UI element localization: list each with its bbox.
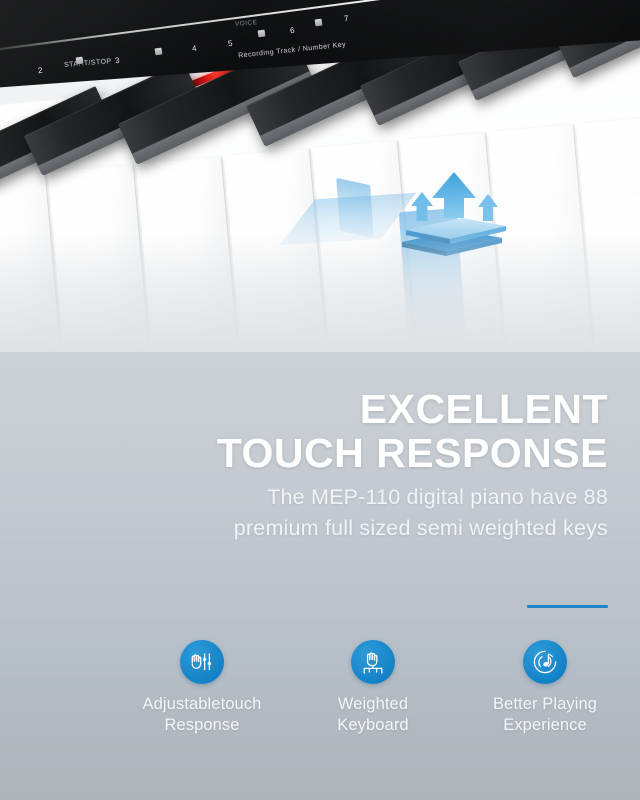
music-note-disc-icon-circle (523, 640, 567, 684)
number-key-button[interactable] (258, 30, 266, 38)
headline-line-2: TOUCH RESPONSE (217, 431, 608, 475)
feature-label-line-1: Weighted (338, 695, 408, 713)
feature-label: Adjustabletouch Response (112, 694, 292, 736)
accent-rule (527, 605, 608, 608)
feature-item-adjustable-touch: Adjustabletouch Response (112, 640, 292, 736)
hand-sliders-icon-circle (180, 640, 224, 684)
feature-label-line-2: Keyboard (337, 716, 408, 734)
keyboard-photo: START/STOP VOICE Recording Track / Numbe… (0, 0, 640, 352)
headline-line-1: EXCELLENT (360, 387, 608, 431)
feature-list: Adjustabletouch Response (0, 640, 640, 760)
feature-label-line-1: Adjustabletouch (143, 695, 262, 713)
feature-label: Weighted Keyboard (283, 694, 463, 736)
number-key-button[interactable] (315, 19, 323, 27)
feature-item-better-playing: Better Playing Experience (455, 640, 635, 736)
hand-sliders-icon (189, 649, 215, 675)
feature-label-line-2: Response (164, 716, 239, 734)
key-lift-arrows-icon (392, 168, 512, 278)
number-key-button[interactable] (155, 48, 163, 56)
hand-pressing-keys-icon (360, 649, 386, 675)
feature-label-line-1: Better Playing (493, 695, 597, 713)
product-banner: START/STOP VOICE Recording Track / Numbe… (0, 0, 640, 800)
music-note-disc-icon (532, 649, 558, 675)
feature-label: Better Playing Experience (455, 694, 635, 736)
feature-item-weighted-keyboard: Weighted Keyboard (283, 640, 463, 736)
subtitle: The MEP-110 digital piano have 88 premiu… (178, 482, 608, 544)
feature-label-line-2: Experience (503, 716, 587, 734)
hand-pressing-keys-icon-circle (351, 640, 395, 684)
number-key-button[interactable] (76, 57, 84, 65)
